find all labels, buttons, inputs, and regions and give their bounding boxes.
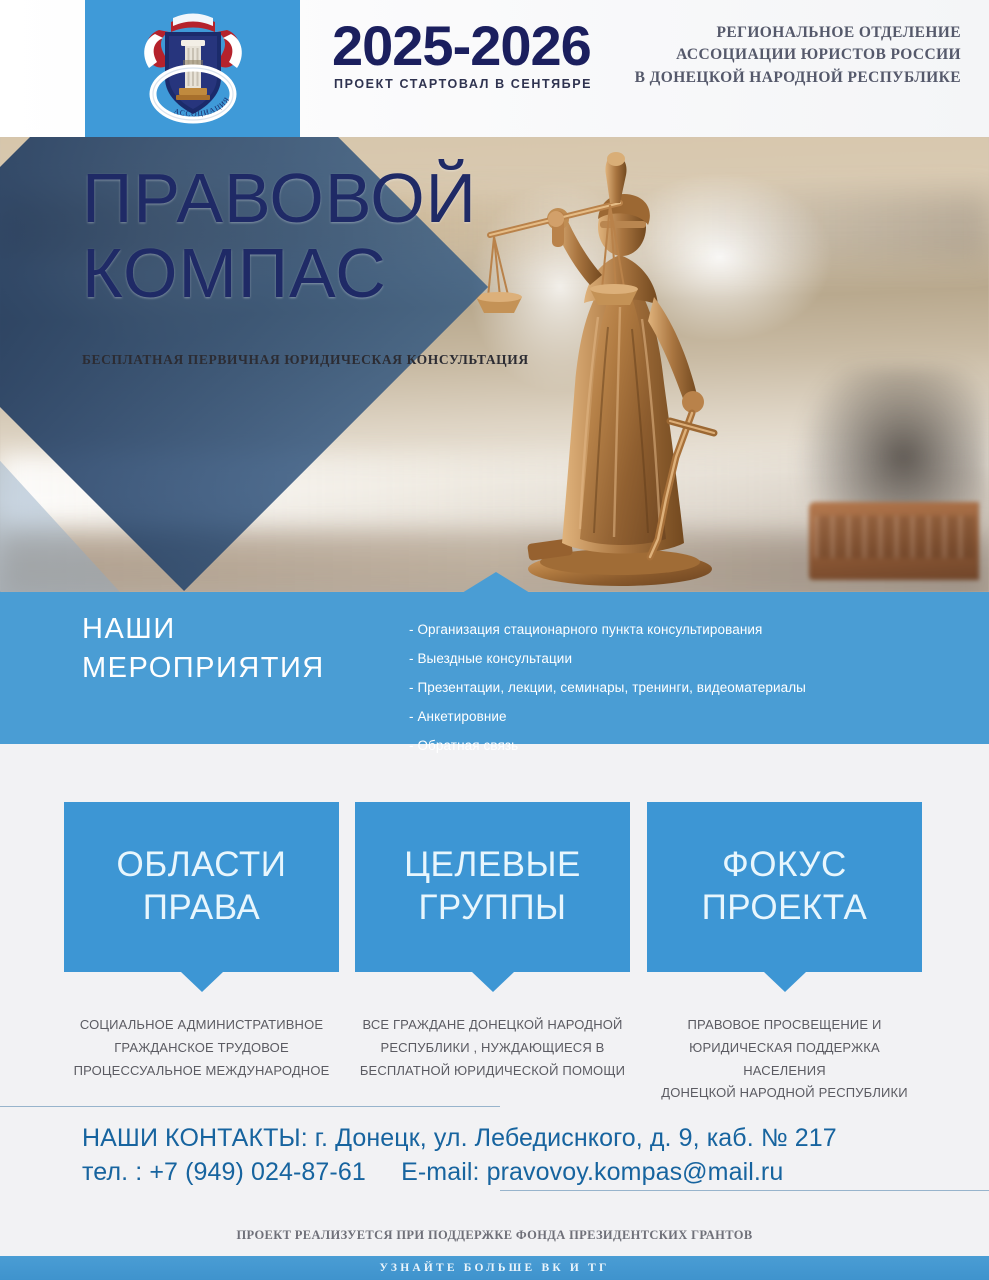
project-year: 2025-2026 — [332, 18, 622, 74]
card-title-line-2: ПРАВА — [117, 887, 287, 930]
card-areas-of-law: ОБЛАСТИ ПРАВА СОЦИАЛЬНОЕ АДМИНИСТРАТИВНО… — [64, 802, 339, 1082]
hero-banner: ПРАВОВОЙ КОМПАС БЕСПЛАТНАЯ ПЕРВИЧНАЯ ЮРИ… — [0, 137, 989, 592]
card-title: ЦЕЛЕВЫЕ ГРУППЫ — [404, 844, 581, 929]
org-line-3: В ДОНЕЦКОЙ НАРОДНОЙ РЕСПУБЛИКЕ — [635, 67, 961, 89]
card-title-line-2: ГРУППЫ — [404, 887, 581, 930]
card-text-line: СОЦИАЛЬНОЕ АДМИНИСТРАТИВНОЕ — [64, 1014, 339, 1037]
logo-panel: АССОЦИАЦИЯ — [85, 0, 300, 137]
card-text: СОЦИАЛЬНОЕ АДМИНИСТРАТИВНОЕ ГРАЖДАНСКОЕ … — [64, 1014, 339, 1082]
year-block: 2025-2026 ПРОЕКТ СТАРТОВАЛ В СЕНТЯБРЕ — [332, 18, 622, 91]
card-title: ОБЛАСТИ ПРАВА — [117, 844, 287, 929]
card-title-line-1: ЦЕЛЕВЫЕ — [404, 844, 581, 887]
card-text: ПРАВОВОЕ ПРОСВЕЩЕНИЕ И ЮРИДИЧЕСКАЯ ПОДДЕ… — [647, 1014, 922, 1105]
footer-bar: УЗНАЙТЕ БОЛЬШЕ ВК И ТГ — [0, 1256, 989, 1280]
poster-header: АССОЦИАЦИЯ 2025-2026 ПРОЕКТ СТАРТОВАЛ В … — [0, 0, 989, 137]
contact-address-line[interactable]: НАШИ КОНТАКТЫ: г. Донецк, ул. Лебедиснко… — [82, 1124, 837, 1153]
divider-top — [0, 1106, 500, 1107]
hero-subtitle: БЕСПЛАТНАЯ ПЕРВИЧНАЯ ЮРИДИЧЕСКАЯ КОНСУЛЬ… — [82, 352, 529, 368]
card-box: ФОКУС ПРОЕКТА — [647, 802, 922, 972]
page-title: ПРАВОВОЙ КОМПАС — [82, 161, 477, 311]
list-item: - Организация стационарного пункта консу… — [409, 622, 806, 637]
card-text: ВСЕ ГРАЖДАНЕ ДОНЕЦКОЙ НАРОДНОЙ РЕСПУБЛИК… — [355, 1014, 630, 1082]
events-title-line-2: МЕРОПРИЯТИЯ — [82, 649, 325, 688]
list-item: - Выездные консультации — [409, 651, 806, 666]
card-text-line: ПРАВОВОЕ ПРОСВЕЩЕНИЕ И — [647, 1014, 922, 1037]
events-title: НАШИ МЕРОПРИЯТИЯ — [82, 610, 325, 688]
law-book-image — [809, 502, 979, 580]
poster-root: АССОЦИАЦИЯ 2025-2026 ПРОЕКТ СТАРТОВАЛ В … — [0, 0, 989, 1280]
org-line-2: АССОЦИАЦИИ ЮРИСТОВ РОССИИ — [635, 44, 961, 66]
card-project-focus: ФОКУС ПРОЕКТА ПРАВОВОЕ ПРОСВЕЩЕНИЕ И ЮРИ… — [647, 802, 922, 1105]
project-start-note: ПРОЕКТ СТАРТОВАЛ В СЕНТЯБРЕ — [332, 77, 622, 91]
organization-block: РЕГИОНАЛЬНОЕ ОТДЕЛЕНИЕ АССОЦИАЦИИ ЮРИСТО… — [635, 22, 961, 89]
list-item: - Анкетировние — [409, 709, 806, 724]
card-target-groups: ЦЕЛЕВЫЕ ГРУППЫ ВСЕ ГРАЖДАНЕ ДОНЕЦКОЙ НАР… — [355, 802, 630, 1082]
card-title: ФОКУС ПРОЕКТА — [702, 844, 868, 929]
card-text-line: ВСЕ ГРАЖДАНЕ ДОНЕЦКОЙ НАРОДНОЙ — [355, 1014, 630, 1037]
card-text-line: ЮРИДИЧЕСКАЯ ПОДДЕРЖКА НАСЕЛЕНИЯ — [647, 1037, 922, 1083]
contact-phone-email-line[interactable]: тел. : +7 (949) 024-87-61 E-mail: pravov… — [82, 1158, 783, 1187]
contacts-section: НАШИ КОНТАКТЫ: г. Донецк, ул. Лебедиснко… — [0, 1098, 989, 1208]
card-title-line-1: ОБЛАСТИ — [117, 844, 287, 887]
card-box: ЦЕЛЕВЫЕ ГРУППЫ — [355, 802, 630, 972]
events-notch-arrow — [462, 572, 530, 593]
card-text-line: ПРОЦЕССУАЛЬНОЕ МЕЖДУНАРОДНОЕ — [64, 1060, 339, 1083]
org-line-1: РЕГИОНАЛЬНОЕ ОТДЕЛЕНИЕ — [635, 22, 961, 44]
grant-support-note: ПРОЕКТ РЕАЛИЗУЕТСЯ ПРИ ПОДДЕРЖКЕ ФОНДА П… — [0, 1228, 989, 1243]
footer-social-text[interactable]: УЗНАЙТЕ БОЛЬШЕ ВК И ТГ — [379, 1262, 609, 1274]
card-box: ОБЛАСТИ ПРАВА — [64, 802, 339, 972]
card-text-line: БЕСПЛАТНОЙ ЮРИДИЧЕСКОЙ ПОМОЩИ — [355, 1060, 630, 1083]
list-item: - Презентации, лекции, семинары, тренинг… — [409, 680, 806, 695]
divider-bottom — [500, 1190, 989, 1191]
events-title-line-1: НАШИ — [82, 610, 325, 649]
cards-section: ОБЛАСТИ ПРАВА СОЦИАЛЬНОЕ АДМИНИСТРАТИВНО… — [0, 744, 989, 1084]
card-title-line-1: ФОКУС — [702, 844, 868, 887]
card-text-line: РЕСПУБЛИКИ , НУЖДАЮЩИЕСЯ В — [355, 1037, 630, 1060]
lady-justice-statue-icon — [470, 147, 810, 592]
hero-title-line-2: КОМПАС — [82, 236, 477, 311]
hero-title-line-1: ПРАВОВОЙ — [82, 161, 477, 236]
card-text-line: ГРАЖДАНСКОЕ ТРУДОВОЕ — [64, 1037, 339, 1060]
events-section: НАШИ МЕРОПРИЯТИЯ - Организация стационар… — [0, 592, 989, 744]
card-title-line-2: ПРОЕКТА — [702, 887, 868, 930]
association-emblem-icon: АССОЦИАЦИЯ — [129, 8, 257, 130]
